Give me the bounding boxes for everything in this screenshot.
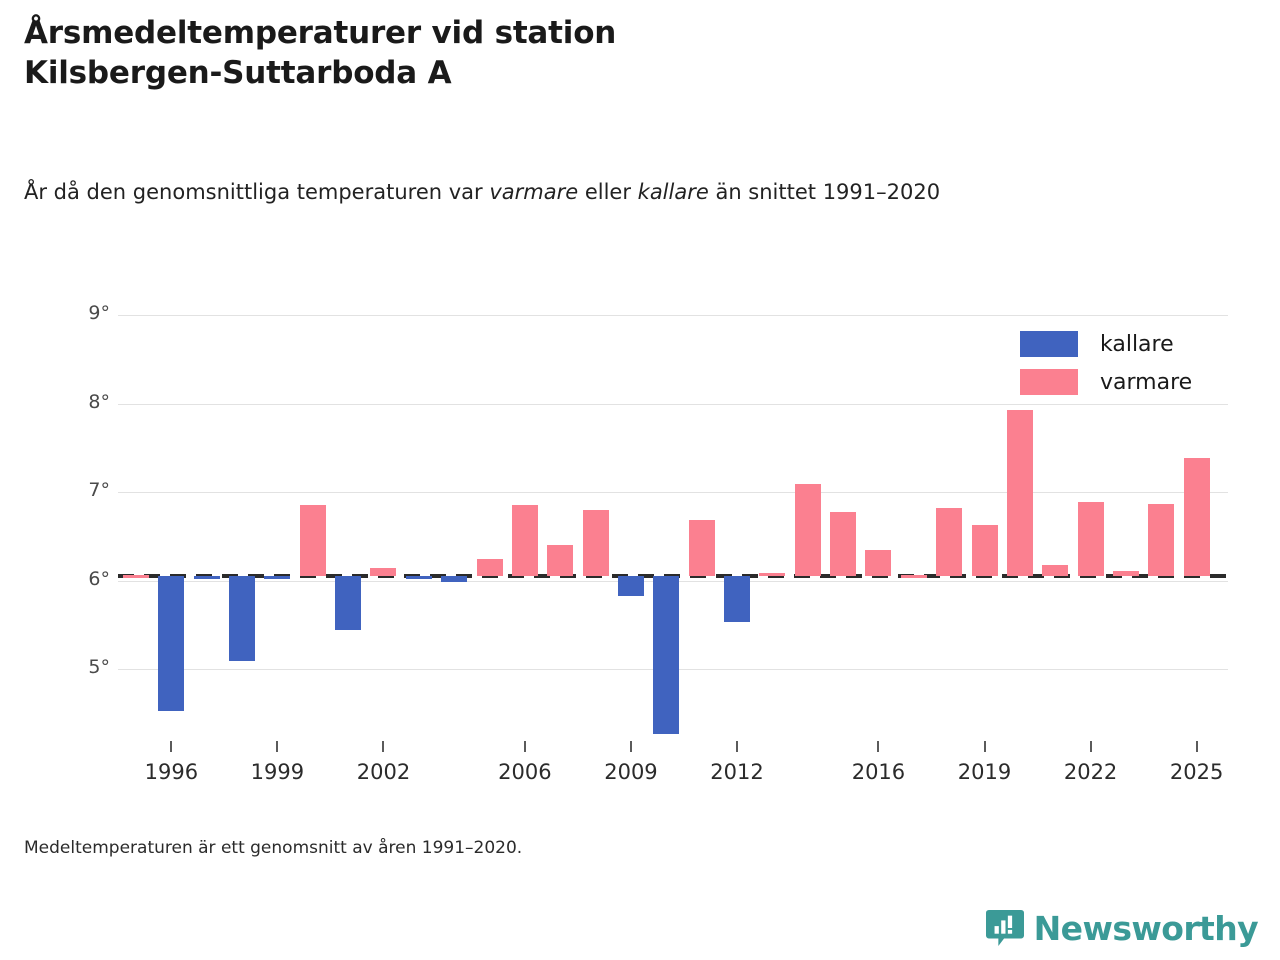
chart-footnote: Medeltemperaturen är ett genomsnitt av å… [24,838,522,858]
gridline-8 [118,404,1228,405]
x-axis-tick-label: 2019 [940,760,1030,784]
bar-2006[interactable] [512,505,538,576]
legend-swatch-kallare [1020,331,1078,357]
bar-1997[interactable] [194,576,220,579]
x-axis-tick [630,741,632,752]
x-axis-tick-label: 1999 [232,760,322,784]
bar-2014[interactable] [795,484,821,576]
bar-2022[interactable] [1078,502,1104,576]
bar-1998[interactable] [229,576,255,661]
y-axis-tick-label: 9° [38,302,110,324]
y-axis-tick-label: 6° [38,568,110,590]
x-axis-tick [1090,741,1092,752]
bar-2013[interactable] [759,573,785,576]
chart-legend: kallarevarmare [1020,325,1192,401]
x-axis-tick [276,741,278,752]
bar-2018[interactable] [936,508,962,576]
x-axis-tick-label: 2012 [692,760,782,784]
x-axis-tick-label: 2009 [586,760,676,784]
bar-1995[interactable] [123,575,149,578]
bar-2001[interactable] [335,576,361,630]
bar-1999[interactable] [264,576,290,579]
bar-2025[interactable] [1184,458,1210,576]
y-axis-tick-label: 8° [38,391,110,413]
x-axis-tick [382,741,384,752]
gridline-7 [118,492,1228,493]
x-axis-tick [736,741,738,752]
bar-2015[interactable] [830,512,856,576]
bar-2009[interactable] [618,576,644,595]
bar-2021[interactable] [1042,565,1068,576]
x-axis-tick-label: 1996 [126,760,216,784]
bar-2020[interactable] [1007,410,1033,576]
legend-item-kallare[interactable]: kallare [1020,325,1192,363]
bar-2010[interactable] [653,576,679,734]
bar-2023[interactable] [1113,571,1139,576]
x-axis-tick-label: 2016 [833,760,923,784]
brand-wordmark: Newsworthy [1034,909,1258,948]
y-axis-tick-label: 7° [38,479,110,501]
legend-item-varmare[interactable]: varmare [1020,363,1192,401]
x-axis-tick [1196,741,1198,752]
newsworthy-logo: Newsworthy [986,908,1258,948]
x-axis-tick-label: 2022 [1046,760,1136,784]
bar-2024[interactable] [1148,504,1174,577]
x-axis-tick-label: 2002 [338,760,428,784]
bar-2008[interactable] [583,510,609,576]
legend-label: kallare [1100,332,1174,357]
gridline-9 [118,315,1228,316]
y-axis-tick-label: 5° [38,656,110,678]
bar-2002[interactable] [370,568,396,576]
bar-2016[interactable] [865,550,891,577]
x-axis-tick [984,741,986,752]
bar-2011[interactable] [689,520,715,576]
x-axis-tick-label: 2006 [480,760,570,784]
legend-label: varmare [1100,370,1192,395]
bar-chart-bubble-icon [986,908,1024,948]
x-axis-tick [877,741,879,752]
x-axis-tick [170,741,172,752]
x-axis-tick [524,741,526,752]
bar-2012[interactable] [724,576,750,622]
bar-1996[interactable] [158,576,184,711]
bar-2005[interactable] [477,559,503,576]
legend-swatch-varmare [1020,369,1078,395]
bar-2007[interactable] [547,545,573,576]
x-axis-tick-label: 2025 [1152,760,1242,784]
bar-chart: 5°6°7°8°9° 19961999200220062009201220162… [0,0,1280,960]
bar-2004[interactable] [441,576,467,582]
bar-2000[interactable] [300,505,326,576]
bar-2017[interactable] [901,575,927,578]
bar-2003[interactable] [406,576,432,579]
bar-2019[interactable] [972,525,998,576]
